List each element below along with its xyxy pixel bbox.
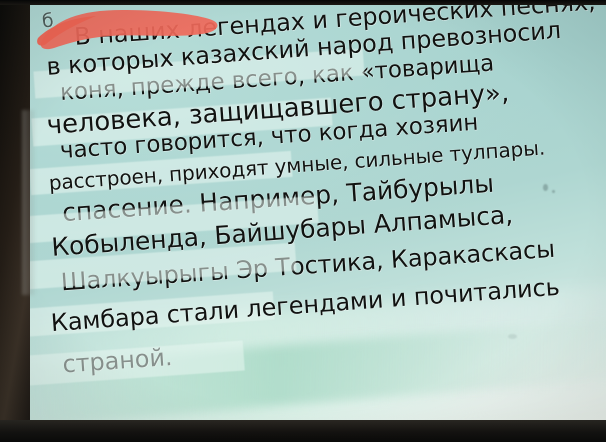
redaction-scribble [36, 4, 236, 52]
monitor-bezel-bottom [0, 420, 606, 442]
slide-line: В наших легендах и героических песнях, [73, 4, 596, 51]
light-sweep-lower [28, 312, 606, 420]
monitor-bezel-top [0, 0, 606, 5]
text-highlight-strip [28, 291, 275, 336]
text-highlight-strip [33, 49, 364, 99]
text-highlight-strip [31, 98, 332, 147]
text-highlight-strip [28, 243, 297, 290]
slide-line: спасение. Например, Тайбурылы [61, 169, 494, 227]
slide-line: страной. [62, 343, 174, 378]
dust-speck [552, 190, 555, 193]
dust-speck [543, 184, 548, 191]
slide-line: расстроен, приходят умные, сильные тулпа… [48, 135, 546, 195]
slide-line: часто говорится, что когда хозяин [59, 110, 479, 164]
light-sweep-upper [28, 278, 606, 420]
slide-line: Кобыленда, Байшубары Алпамыса, [50, 200, 513, 262]
text-highlight-strip [28, 196, 319, 243]
dust-speck [508, 334, 517, 339]
slide-line: Шалкуырыгы Эр Тостика, Каракаскасы [60, 235, 556, 297]
slide-text-layer-front: в которых казахский народ превозносил че… [28, 4, 606, 419]
text-highlight-strip [29, 151, 292, 195]
photograph-of-screen: В наших легендах и героических песнях, к… [0, 0, 606, 442]
slide-text-layer-back: В наших легендах и героических песнях, к… [28, 4, 606, 419]
slide-line: человека, защищавшего страну», [46, 78, 510, 141]
slide-line: в которых казахский народ превозносил [46, 16, 562, 81]
slide-line: коня, прежде всего, как «товарища [59, 50, 495, 106]
text-highlight-strip [28, 341, 245, 386]
slide-screen: В наших легендах и героических песнях, к… [28, 4, 606, 420]
obscured-heading-text: б [41, 10, 54, 33]
slide-line: Камбара стали легендами и почитались [50, 273, 561, 337]
bezel-reflection [22, 110, 35, 295]
obscured-heading: б [41, 10, 54, 33]
